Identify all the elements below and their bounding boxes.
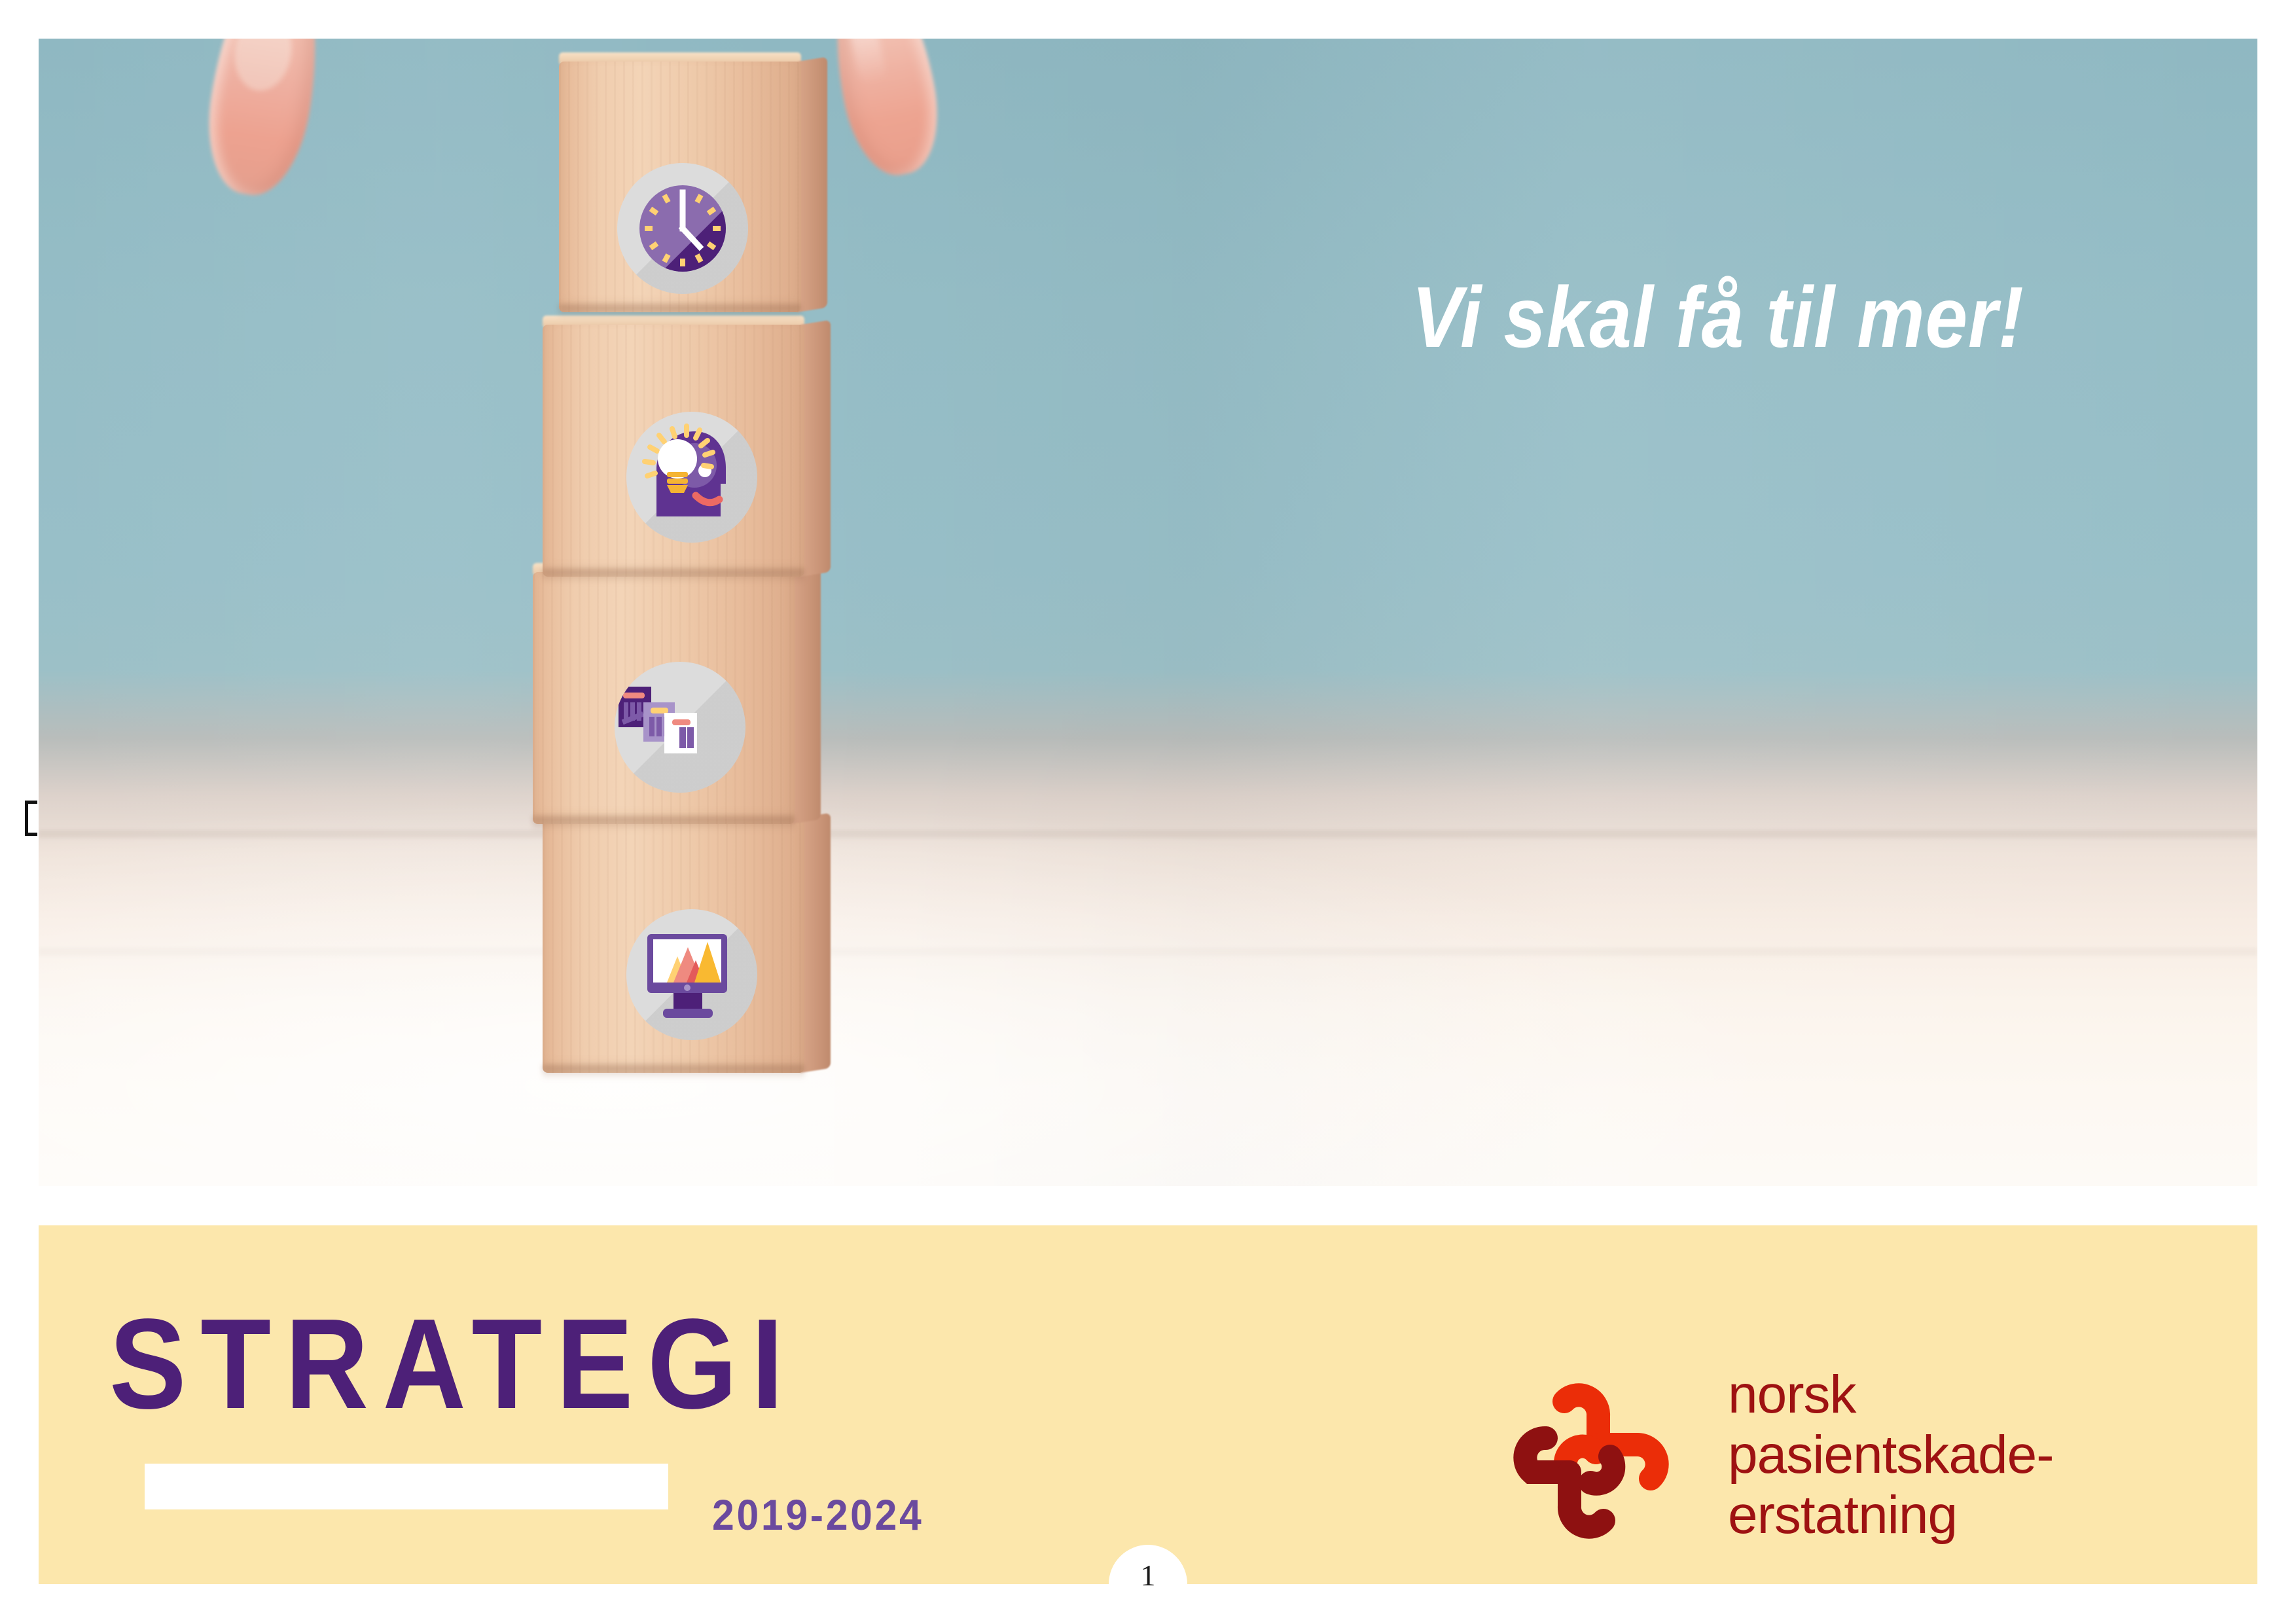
idea-head-icon xyxy=(626,412,757,543)
logo-line-2: pasientskade- xyxy=(1728,1425,2054,1485)
year-range: 2019-2024 xyxy=(712,1490,924,1540)
block-shadow xyxy=(543,1065,804,1079)
page-title: STRATEGI xyxy=(109,1300,798,1428)
block-icon-badge-1 xyxy=(617,163,748,294)
block-shadow xyxy=(559,304,801,319)
block-icon-badge-4 xyxy=(626,909,757,1040)
organisation-logo: norsk pasientskade- erstatning xyxy=(1512,1365,2166,1561)
block-shadow xyxy=(543,569,804,583)
block-side-face xyxy=(791,568,821,824)
block-side-face xyxy=(800,813,831,1073)
logo-line-1: norsk xyxy=(1728,1365,2054,1425)
block-shadow xyxy=(533,816,795,831)
monitor-chart-icon xyxy=(626,909,757,1040)
hero-photo: Vi skal få til mer! xyxy=(39,39,2257,1186)
block-side-face xyxy=(800,320,831,577)
logo-wordmark: norsk pasientskade- erstatning xyxy=(1728,1365,2054,1545)
npe-pinwheel-mark xyxy=(1512,1367,1695,1551)
block-icon-badge-2 xyxy=(626,412,757,543)
clock-icon xyxy=(617,163,748,294)
page-number: 1 xyxy=(1109,1561,1187,1591)
reports-icon xyxy=(615,662,745,793)
logo-line-3: erstatning xyxy=(1728,1485,2054,1545)
block-side-face xyxy=(797,57,827,312)
hero-tagline: Vi skal få til mer! xyxy=(1412,274,2024,361)
registration-crop-mark xyxy=(25,801,37,836)
table-light-pool xyxy=(39,796,1814,1186)
block-icon-badge-3 xyxy=(615,662,745,793)
page-root: Vi skal få til mer! STRATEGI 2019-2024 n… xyxy=(0,0,2296,1624)
title-underline-bar xyxy=(145,1464,668,1509)
